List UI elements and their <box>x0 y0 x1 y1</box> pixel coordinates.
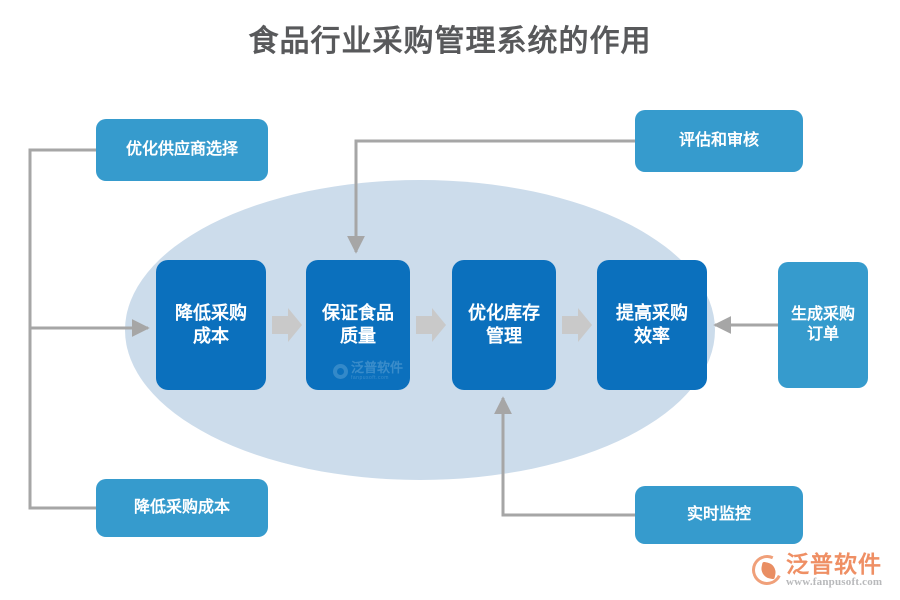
core-node-optimize-inventory[interactable]: 优化库存 管理 <box>452 260 556 390</box>
core-node-ensure-food-quality[interactable]: 保证食品 质量 <box>306 260 410 390</box>
chevron-core3-core4 <box>562 308 592 342</box>
core-node-improve-efficiency[interactable]: 提高采购 效率 <box>597 260 707 390</box>
connector-evaluate-audit <box>356 141 635 252</box>
core-node-reduce-procurement-cost[interactable]: 降低采购 成本 <box>156 260 266 390</box>
brand-logo: 泛普软件 www.fanpusoft.com <box>752 546 894 594</box>
connector-realtime-monitor <box>503 398 635 515</box>
satellite-node-realtime-monitoring[interactable]: 实时监控 <box>635 486 803 544</box>
satellite-node-evaluation-and-audit[interactable]: 评估和审核 <box>635 110 803 172</box>
brand-url: www.fanpusoft.com <box>786 576 882 588</box>
connector-reduce-cost-bottom <box>30 328 96 508</box>
satellite-node-optimize-supplier-selection[interactable]: 优化供应商选择 <box>96 119 268 181</box>
satellite-node-generate-purchase-order[interactable]: 生成采购 订单 <box>778 262 868 388</box>
satellite-node-reduce-procurement-cost[interactable]: 降低采购成本 <box>96 479 268 537</box>
brand-name: 泛普软件 <box>786 552 882 576</box>
diagram-canvas: 食品行业采购管理系统的作用 <box>0 0 900 600</box>
chevron-core1-core2 <box>272 308 302 342</box>
brand-logo-icon <box>752 555 782 585</box>
chevron-core2-core3 <box>416 308 446 342</box>
